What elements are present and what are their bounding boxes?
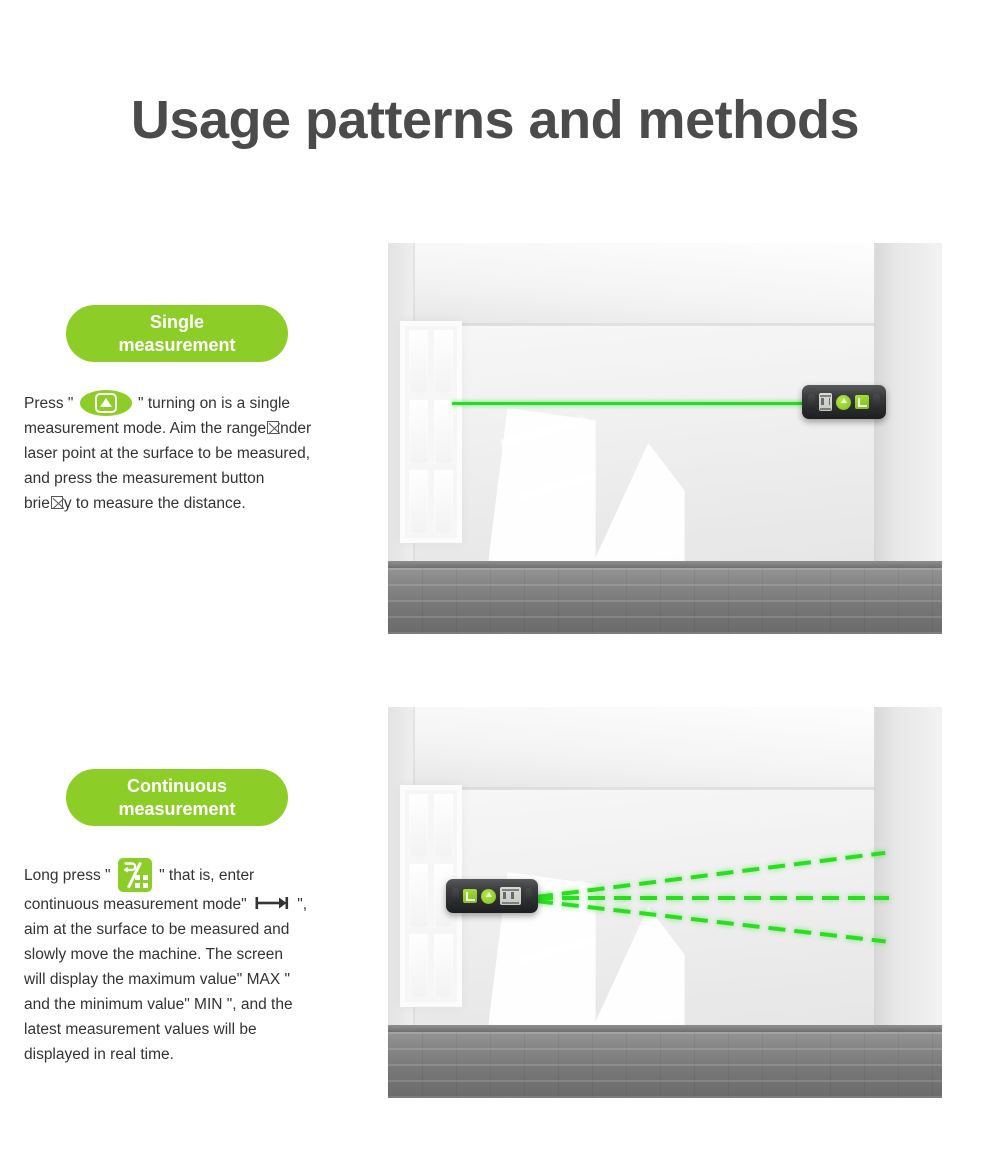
paragraph-line: and the minimum value" MIN ", and the bbox=[24, 992, 384, 1017]
ceiling-edge bbox=[388, 787, 942, 790]
missing-glyph-icon bbox=[51, 496, 63, 509]
paragraph-line: Press " " turning on is a single bbox=[24, 390, 384, 416]
line-text-pre: Long press " bbox=[24, 867, 115, 884]
lcd-value bbox=[503, 892, 519, 899]
badge-line-1: Single bbox=[150, 311, 204, 334]
distance-symbol-icon bbox=[255, 896, 289, 910]
ceiling bbox=[388, 707, 942, 789]
paragraph-line: measurement mode. Aim the rangender bbox=[24, 416, 384, 441]
line-text-post: " that is, enter bbox=[155, 867, 254, 884]
window-column bbox=[409, 330, 428, 534]
paragraph-line: Long press " " that is, enter bbox=[24, 858, 384, 892]
device-end-cap bbox=[873, 394, 880, 410]
room-scene bbox=[388, 243, 942, 634]
device-measure-button-icon bbox=[481, 889, 496, 904]
laser-beam-solid bbox=[452, 402, 809, 405]
continuous-measurement-room-photo bbox=[388, 707, 942, 1098]
page-title: Usage patterns and methods bbox=[0, 92, 990, 149]
paragraph-continuous-measurement: Long press " " that is, enter continuous… bbox=[24, 858, 384, 1067]
paragraph-single-measurement: Press " " turning on is a single measure… bbox=[24, 390, 384, 516]
window-pane bbox=[409, 864, 428, 928]
badge-continuous-measurement: Continuous measurement bbox=[66, 769, 288, 826]
line-text-post: " turning on is a single bbox=[134, 395, 290, 412]
window-pane bbox=[434, 470, 453, 534]
device-end-cap bbox=[808, 394, 815, 410]
single-measure-button-icon bbox=[80, 390, 132, 416]
ceiling-edge bbox=[388, 323, 942, 326]
laser-distance-meter-device bbox=[802, 385, 886, 419]
window bbox=[400, 321, 462, 543]
line-text-pre: continuous measurement mode" bbox=[24, 896, 251, 913]
device-mode-button-icon bbox=[463, 889, 477, 903]
line-text-post: nder bbox=[280, 420, 311, 437]
ceiling bbox=[388, 243, 942, 325]
missing-glyph-icon bbox=[267, 421, 279, 434]
window-pane bbox=[409, 330, 428, 394]
baseboard bbox=[388, 1025, 942, 1032]
continuous-mode-key-icon bbox=[118, 858, 152, 892]
device-mode-button-icon bbox=[855, 395, 869, 409]
lcd-line bbox=[820, 408, 831, 410]
paragraph-line: displayed in real time. bbox=[24, 1042, 384, 1067]
laser-beam-dashed-middle bbox=[536, 896, 889, 900]
window-pane bbox=[434, 794, 453, 858]
baseboard bbox=[388, 561, 942, 568]
lcd-line bbox=[820, 395, 831, 397]
floor bbox=[388, 1032, 942, 1098]
paragraph-line: slowly move the machine. The screen bbox=[24, 942, 384, 967]
lcd-value bbox=[821, 398, 831, 405]
laser-distance-meter-device bbox=[446, 879, 538, 913]
paragraph-line: continuous measurement mode" ", bbox=[24, 892, 384, 917]
paragraph-line: briey to measure the distance. bbox=[24, 491, 384, 516]
badge-single-measurement: Single measurement bbox=[66, 305, 288, 362]
window-pane bbox=[409, 794, 428, 858]
window-column bbox=[434, 330, 453, 534]
lcd-line bbox=[502, 889, 520, 891]
room-scene bbox=[388, 707, 942, 1098]
badge-line-2: measurement bbox=[118, 334, 235, 357]
keypad-grid-icon bbox=[135, 875, 148, 888]
paragraph-line: latest measurement values will be bbox=[24, 1017, 384, 1042]
window-column bbox=[409, 794, 428, 998]
window-pane bbox=[434, 400, 453, 464]
window-pane bbox=[409, 400, 428, 464]
line-text-pre: brie bbox=[24, 495, 50, 512]
device-end-cap bbox=[525, 888, 532, 904]
device-end-cap bbox=[452, 888, 459, 904]
line-text-pre: measurement mode. Aim the range bbox=[24, 420, 266, 437]
single-measure-triangle-icon bbox=[100, 398, 112, 407]
device-measure-button-icon bbox=[836, 395, 851, 410]
paragraph-line: laser point at the surface to be measure… bbox=[24, 441, 384, 466]
lcd-line bbox=[502, 902, 520, 904]
floor bbox=[388, 568, 942, 634]
paragraph-line: and press the measurement button bbox=[24, 466, 384, 491]
device-lcd-screen bbox=[819, 393, 832, 411]
line-text-pre: Press " bbox=[24, 395, 78, 412]
paragraph-line: aim at the surface to be measured and bbox=[24, 917, 384, 942]
window-pane bbox=[434, 330, 453, 394]
window-pane bbox=[434, 934, 453, 998]
line-text-post: ", bbox=[293, 896, 307, 913]
window-pane bbox=[409, 470, 428, 534]
window-pane bbox=[409, 934, 428, 998]
single-measurement-room-photo bbox=[388, 243, 942, 634]
badge-line-2: measurement bbox=[118, 798, 235, 821]
paragraph-line: will display the maximum value" MAX " bbox=[24, 967, 384, 992]
line-text-post: y to measure the distance. bbox=[64, 495, 246, 512]
badge-line-1: Continuous bbox=[127, 775, 227, 798]
device-lcd-screen bbox=[500, 887, 521, 905]
